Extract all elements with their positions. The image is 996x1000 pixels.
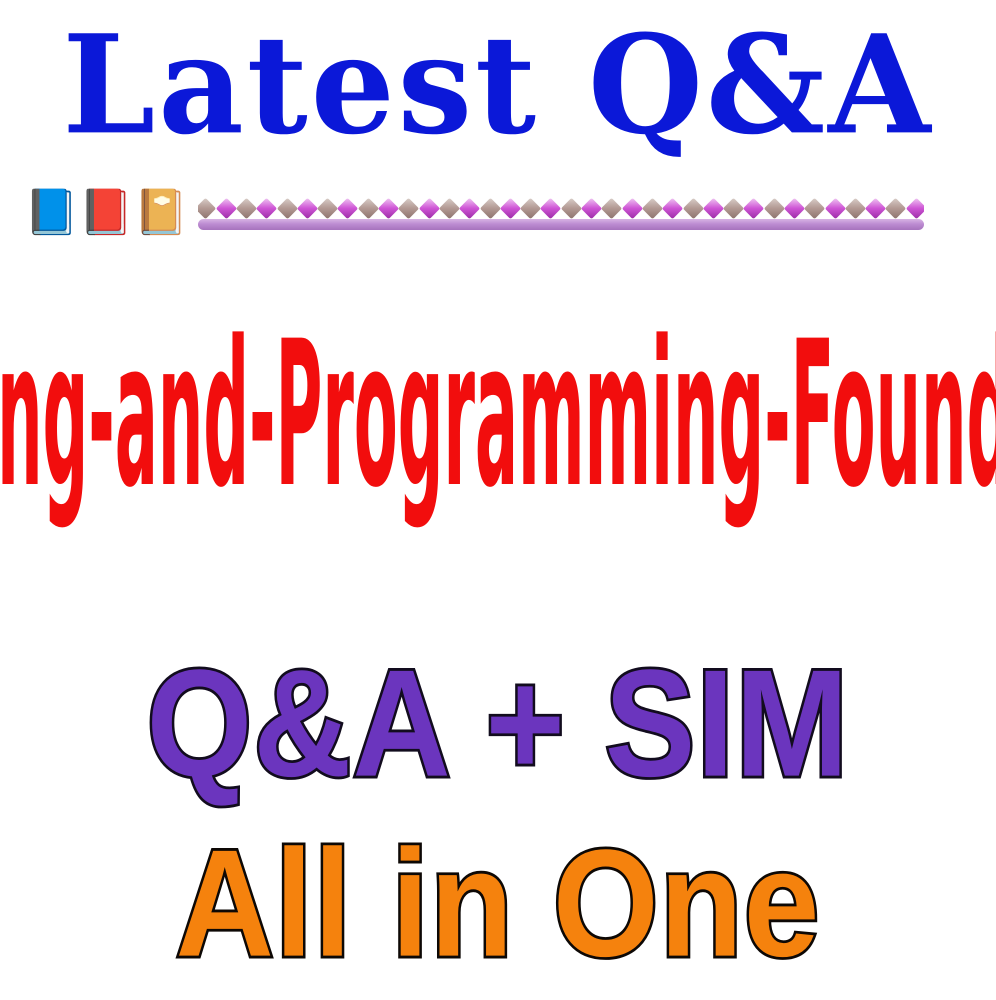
divider-diamond — [419, 197, 440, 218]
divider-diamond — [703, 197, 724, 218]
diamond-strip — [198, 197, 924, 219]
divider-diamond — [459, 197, 480, 218]
divider-diamond — [824, 197, 845, 218]
headline-row: Latest Q&A — [0, 6, 996, 166]
divider-diamond — [378, 197, 399, 218]
divider-diamond — [256, 197, 277, 218]
divider-diamond — [723, 197, 744, 218]
divider-diamond — [804, 197, 825, 218]
offer-line2: All in One — [176, 827, 821, 979]
divider-diamond — [662, 197, 683, 218]
divider-diamond — [398, 197, 419, 218]
offer-line1: Q&A + SIM — [147, 647, 850, 799]
divider-diamond — [358, 197, 379, 218]
divider-diamond — [784, 197, 805, 218]
course-title: Scripting-and-Programming-Foundations — [0, 316, 996, 517]
divider-diamond — [500, 197, 521, 218]
pink-book-emoji: 📔 — [134, 191, 189, 235]
divider-diamond — [337, 197, 358, 218]
divider-diamond — [479, 197, 500, 218]
divider-diamond — [601, 197, 622, 218]
course-title-row: Scripting-and-Programming-Foundations — [0, 296, 996, 536]
divider-diamond — [622, 197, 643, 218]
divider-diamond — [743, 197, 764, 218]
divider-diamond — [642, 197, 663, 218]
divider-diamond — [764, 197, 785, 218]
divider-diamond — [297, 197, 318, 218]
blue-book-emoji: 📘 — [24, 191, 79, 235]
divider-diamond — [236, 197, 257, 218]
divider-diamond — [216, 197, 237, 218]
divider-bar — [198, 219, 924, 230]
divider-diamond — [865, 197, 886, 218]
divider-diamond — [198, 197, 216, 218]
divider-diamond — [540, 197, 561, 218]
divider-diamond — [561, 197, 582, 218]
divider-diamond — [439, 197, 460, 218]
offer-line2-row: All in One — [0, 818, 996, 988]
divider-diamond — [906, 197, 924, 218]
page-title: Latest Q&A — [62, 18, 933, 154]
divider-diamond — [317, 197, 338, 218]
diamond-divider — [198, 191, 924, 235]
divider-diamond — [276, 197, 297, 218]
divider-diamond — [845, 197, 866, 218]
divider-diamond — [581, 197, 602, 218]
offer-line1-row: Q&A + SIM — [0, 638, 996, 808]
promo-poster: Latest Q&A 📘 📕 📔 Scripting-and-Programmi… — [0, 0, 996, 1000]
brown-book-emoji: 📕 — [79, 191, 134, 235]
book-emoji-group: 📘 📕 📔 — [24, 191, 188, 235]
divider-diamond — [682, 197, 703, 218]
divider-diamond — [885, 197, 906, 218]
divider-diamond — [520, 197, 541, 218]
decorative-divider-row: 📘 📕 📔 — [24, 182, 964, 244]
